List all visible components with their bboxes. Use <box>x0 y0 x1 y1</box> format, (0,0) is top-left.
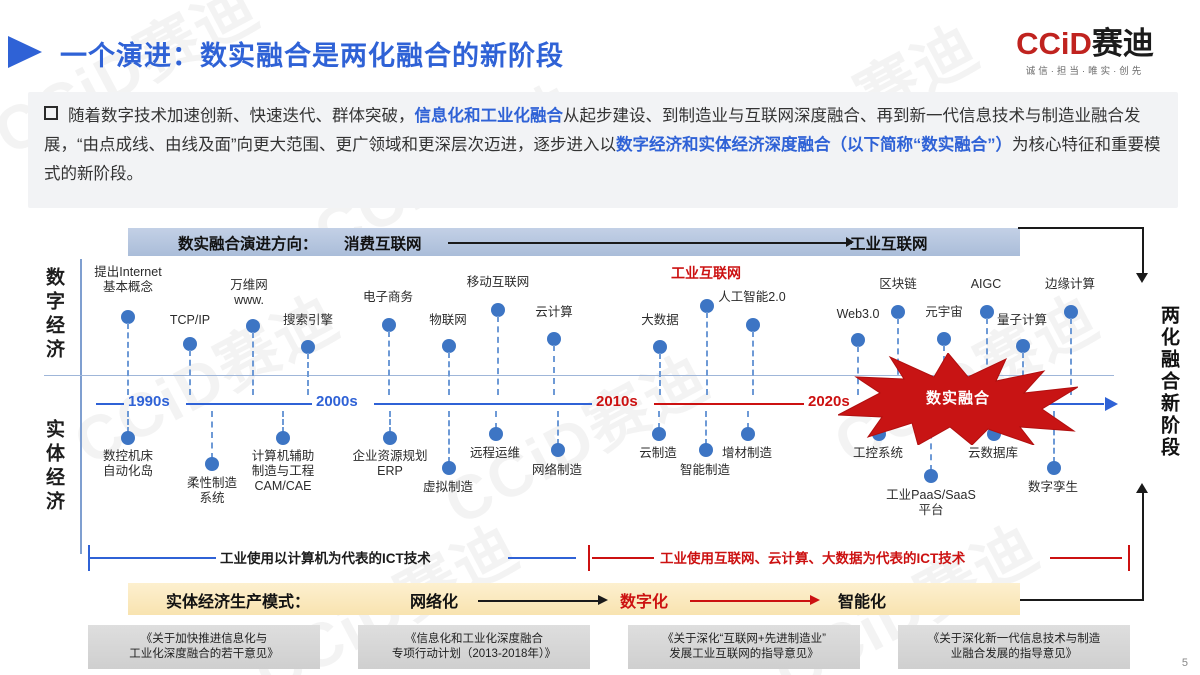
policy-doc-3[interactable]: 《关于深化“互联网+先进制造业”发展工业互联网的指导意见》 <box>628 625 860 669</box>
production-arrow-head-1-icon <box>598 595 608 605</box>
node-dot-icon <box>301 340 315 354</box>
node-label: 网络制造 <box>507 463 607 478</box>
node-stem <box>557 411 559 445</box>
page-title: 一个演进：数实融合是两化融合的新阶段 <box>60 34 564 73</box>
node-label: 物联网 <box>404 313 492 328</box>
node-label: 量子计算 <box>976 313 1068 328</box>
node-label: 企业资源规划ERP <box>325 449 455 479</box>
direction-from-label: 消费互联网 <box>344 232 422 254</box>
node-dot-icon <box>652 427 666 441</box>
node-label: 智能制造 <box>655 463 755 478</box>
node-stem <box>659 353 661 395</box>
logo-chinese-text: 赛迪 <box>1092 26 1154 61</box>
logo-cc-text: CC <box>1016 26 1061 61</box>
ict-tick-right <box>1128 545 1130 571</box>
policy-doc-2[interactable]: 《信息化和工业化深度融合专项行动计划（2013-2018年）》 <box>358 625 590 669</box>
production-stage-3: 智能化 <box>838 588 886 612</box>
node-stem <box>388 331 390 395</box>
node-label: 云数据库 <box>943 446 1043 461</box>
node-label: 数控机床自动化岛 <box>78 449 178 479</box>
node-dot-icon <box>937 332 951 346</box>
node-stem <box>127 323 129 395</box>
node-label: 边缘计算 <box>1024 277 1116 292</box>
node-stem <box>553 345 555 395</box>
timeline-segment <box>96 403 124 405</box>
ict-line-right-a <box>592 557 654 559</box>
ict-tick-middle <box>588 545 590 571</box>
intro-text-1: 随着数字技术加速创新、快速迭代、群体突破， <box>68 107 415 125</box>
intro-paragraph: 随着数字技术加速创新、快速迭代、群体突破，信息化和工业化融合从起步建设、到制造业… <box>44 102 1166 189</box>
logo-wordmark: CCiD赛迪 <box>980 28 1190 59</box>
intro-highlight-1: 信息化和工业化融合 <box>415 107 564 125</box>
node-stem <box>448 352 450 395</box>
node-dot-icon <box>851 333 865 347</box>
node-dot-icon <box>741 427 755 441</box>
node-label: 万维网www. <box>206 278 292 308</box>
starburst-label: 数实融合 <box>838 387 1078 408</box>
right-bracket-bottom <box>1142 491 1144 601</box>
policy-documents: 《关于加快推进信息化与工业化深度融合的若干意见》 《信息化和工业化深度融合专项行… <box>88 625 1132 671</box>
ict-line-left-a <box>90 557 216 559</box>
node-dot-icon <box>489 427 503 441</box>
timeline-diagram: 数实融合演进方向： 消费互联网 工业互联网 数字经济 实体经济 两化融合新阶段 … <box>0 215 1200 675</box>
direction-bar-label: 数实融合演进方向： <box>178 232 318 254</box>
node-stem <box>252 332 254 395</box>
node-label: 人工智能2.0 <box>690 290 814 305</box>
slide-root: 一个演进：数实融合是两化融合的新阶段 CCiD赛迪 诚信·担当·唯实·创先 随着… <box>0 0 1200 675</box>
node-dot-icon <box>121 431 135 445</box>
node-stem <box>706 312 708 395</box>
node-dot-icon <box>442 461 456 475</box>
node-label: 工控系统 <box>828 446 928 461</box>
timeline-segment <box>186 403 312 405</box>
axis-label-digital-economy: 数字经济 <box>40 267 67 363</box>
node-label: 搜索引擎 <box>262 313 354 328</box>
right-bracket-top <box>1142 227 1144 275</box>
timeline-segment <box>654 403 804 405</box>
policy-doc-label: 《关于加快推进信息化与工业化深度融合的若干意见》 <box>129 632 279 662</box>
ict-band: 工业使用以计算机为代表的ICT技术 工业使用互联网、云计算、大数据为代表的ICT… <box>88 543 1132 577</box>
node-dot-icon <box>1016 339 1030 353</box>
node-stem <box>307 353 309 395</box>
policy-doc-label: 《关于深化新一代信息技术与制造业融合发展的指导意见》 <box>928 632 1101 662</box>
node-stem <box>752 331 754 395</box>
node-label: TCP/IP <box>150 313 230 328</box>
node-dot-icon <box>442 339 456 353</box>
node-stem <box>282 411 284 433</box>
page-number: 5 <box>1182 657 1188 669</box>
node-label: 虚拟制造 <box>398 480 498 495</box>
production-arrow-head-2-icon <box>810 595 820 605</box>
node-dot-icon <box>746 318 760 332</box>
production-mode-bar: 实体经济生产模式： 网络化 数字化 智能化 <box>128 583 1020 615</box>
node-label: 电子商务 <box>342 290 434 305</box>
intro-highlight-2: 数字经济和实体经济深度融合（以下简称“数实融合”） <box>616 136 1012 154</box>
node-dot-icon <box>547 332 561 346</box>
direction-to-label: 工业互联网 <box>850 232 928 254</box>
axis-label-real-economy: 实体经济 <box>40 419 67 515</box>
node-dot-icon <box>653 340 667 354</box>
policy-doc-label: 《信息化和工业化深度融合专项行动计划（2013-2018年）》 <box>392 632 556 662</box>
node-dot-icon <box>551 443 565 457</box>
node-label: 工业PaaS/SaaS平台 <box>862 488 1000 518</box>
logo-d-text: D <box>1070 26 1092 61</box>
node-dot-icon <box>183 337 197 351</box>
square-bullet-icon <box>44 106 58 120</box>
node-dot-icon <box>382 318 396 332</box>
policy-doc-1[interactable]: 《关于加快推进信息化与工业化深度融合的若干意见》 <box>88 625 320 669</box>
node-stem <box>189 350 191 395</box>
production-bar-label: 实体经济生产模式： <box>166 588 310 612</box>
node-label: 区块链 <box>852 277 944 292</box>
ict-label-right: 工业使用互联网、云计算、大数据为代表的ICT技术 <box>660 547 965 567</box>
decade-label-2000s: 2000s <box>316 393 358 410</box>
ict-label-left: 工业使用以计算机为代表的ICT技术 <box>220 547 431 567</box>
ict-line-right-b <box>1050 557 1122 559</box>
production-arrow-line-2 <box>690 600 812 602</box>
node-dot-icon <box>1064 305 1078 319</box>
right-axis-label: 两化融合新阶段 <box>1155 305 1182 459</box>
right-bracket-bottom-h <box>1018 599 1144 601</box>
direction-bar: 数实融合演进方向： 消费互联网 工业互联网 <box>128 228 1020 256</box>
node-dot-icon <box>276 431 290 445</box>
node-dot-icon <box>246 319 260 333</box>
intro-panel: 随着数字技术加速创新、快速迭代、群体突破，信息化和工业化融合从起步建设、到制造业… <box>28 92 1178 208</box>
policy-doc-label: 《关于深化“互联网+先进制造业”发展工业互联网的指导意见》 <box>662 632 826 662</box>
node-stem <box>497 316 499 395</box>
logo-i-text: i <box>1061 26 1070 61</box>
decade-label-1990s: 1990s <box>128 393 170 410</box>
node-label: 云制造 <box>608 446 708 461</box>
logo-tagline: 诚信·担当·唯实·创先 <box>980 63 1190 77</box>
node-label: AIGC <box>946 277 1026 292</box>
node-dot-icon <box>383 431 397 445</box>
right-arrow-down-icon <box>1136 273 1148 283</box>
triangle-bullet-icon <box>8 36 42 68</box>
node-label: 云计算 <box>508 305 600 320</box>
decade-label-2010s: 2010s <box>596 393 638 410</box>
timeline-segment <box>374 403 592 405</box>
production-stage-1: 网络化 <box>410 588 458 612</box>
node-stem <box>705 411 707 445</box>
node-label: 移动互联网 <box>440 275 556 290</box>
node-label: 提出Internet基本概念 <box>78 265 178 295</box>
ict-line-left-b <box>508 557 576 559</box>
production-stage-2: 数字化 <box>620 588 668 612</box>
vertical-axis-line <box>80 259 82 554</box>
policy-doc-4[interactable]: 《关于深化新一代信息技术与制造业融合发展的指导意见》 <box>898 625 1130 669</box>
node-stem <box>127 411 129 433</box>
starburst-shape: 数实融合 <box>838 353 1078 445</box>
node-dot-icon <box>205 457 219 471</box>
node-dot-icon <box>121 310 135 324</box>
node-dot-icon <box>924 469 938 483</box>
node-label: 工业互联网 <box>640 266 772 281</box>
node-label: 增材制造 <box>697 446 797 461</box>
direction-arrow-line <box>448 242 852 244</box>
right-bracket-top-h <box>1018 227 1144 229</box>
node-label: 远程运维 <box>445 446 545 461</box>
production-arrow-line-1 <box>478 600 600 602</box>
node-label: 大数据 <box>614 313 706 328</box>
node-dot-icon <box>491 303 505 317</box>
node-dot-icon <box>1047 461 1061 475</box>
node-label: 数字孪生 <box>1003 480 1103 495</box>
ccid-logo: CCiD赛迪 诚信·担当·唯实·创先 <box>980 28 1190 77</box>
node-stem <box>211 411 213 459</box>
slide-header: 一个演进：数实融合是两化融合的新阶段 CCiD赛迪 诚信·担当·唯实·创先 <box>0 14 1200 68</box>
node-stem <box>389 411 391 433</box>
timeline-arrow-head-icon <box>1105 397 1118 411</box>
